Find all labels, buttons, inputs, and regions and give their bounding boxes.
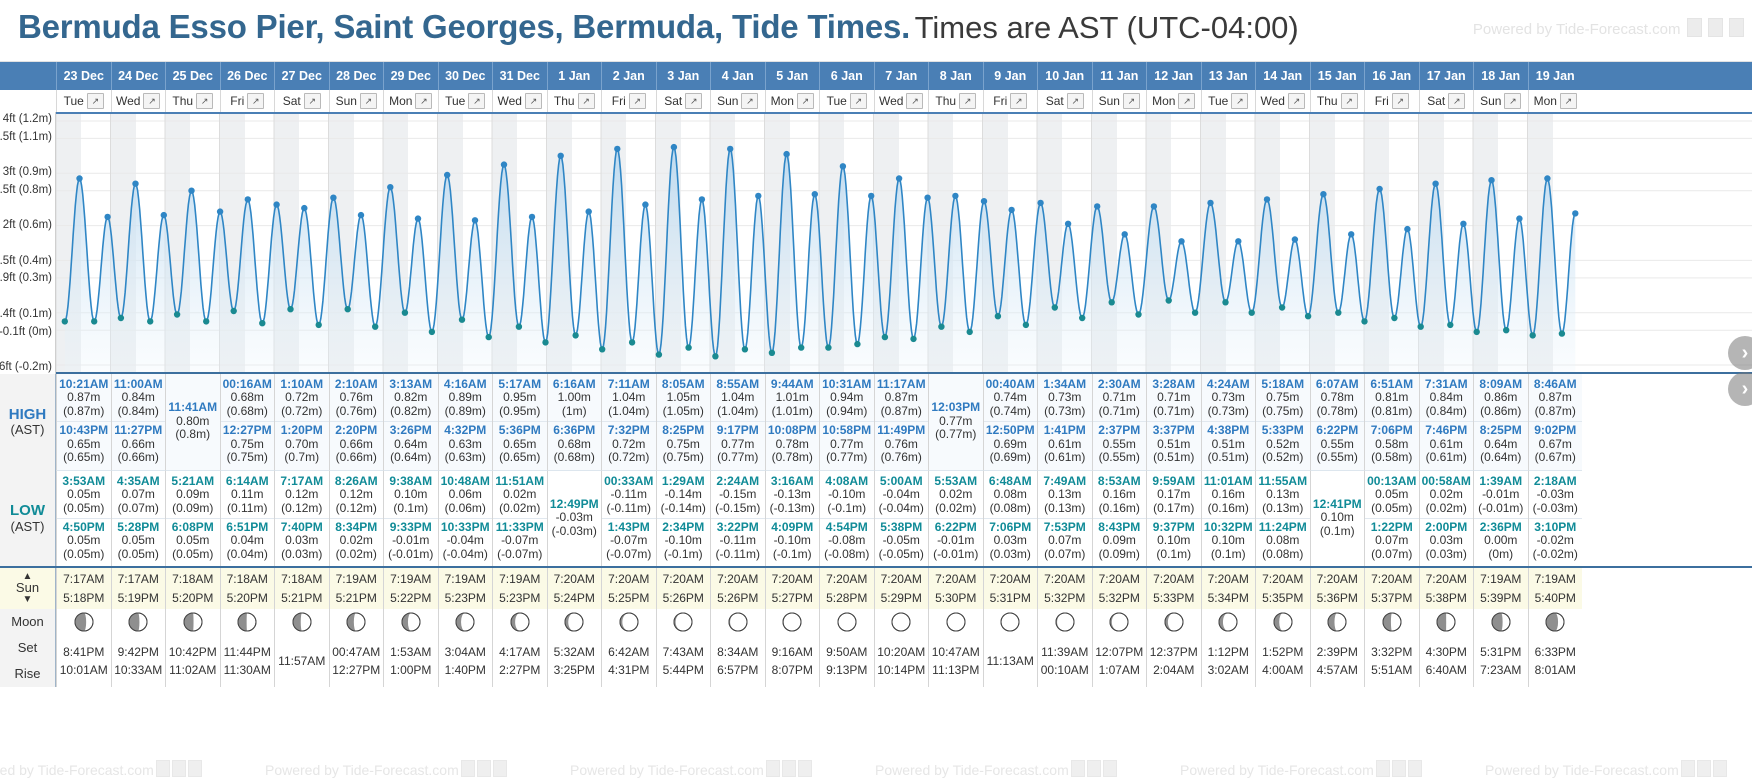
tide-height-alt: (0.69m) bbox=[984, 451, 1038, 464]
date-header-cell[interactable]: 16 Jan bbox=[1364, 62, 1419, 90]
moonrise-time: 4:57AM bbox=[1317, 661, 1358, 679]
sun-cell: 7:20AM5:35PM bbox=[1255, 568, 1310, 609]
weekday-label: Sat bbox=[1427, 94, 1445, 108]
setrise-cell: 4:17AM2:27PM bbox=[492, 635, 547, 687]
moon-phase-icon bbox=[454, 611, 476, 633]
tide-entry: 00:33AM-0.11m(-0.11m) bbox=[602, 473, 656, 518]
moonrise-label-text: Rise bbox=[14, 661, 40, 687]
sunrise-time: 7:20AM bbox=[935, 570, 976, 589]
tide-height-alt: (1.04m) bbox=[711, 405, 765, 418]
tide-height: 0.16m bbox=[1093, 488, 1147, 501]
date-header-cell[interactable]: 23 Dec bbox=[56, 62, 111, 90]
expand-icon[interactable]: ↗ bbox=[304, 93, 321, 109]
moon-phase-icon bbox=[345, 611, 367, 633]
expand-icon[interactable]: ↗ bbox=[850, 93, 867, 109]
setrise-cell: 11:39AM00:10AM bbox=[1037, 635, 1092, 687]
tide-time: 3:37PM bbox=[1147, 424, 1201, 437]
tide-height: 0.75m bbox=[1256, 391, 1310, 404]
tide-time: 3:10PM bbox=[1529, 521, 1583, 534]
moon-phase-icon bbox=[1381, 611, 1403, 633]
moon-cell bbox=[547, 609, 602, 635]
expand-icon[interactable]: ↗ bbox=[629, 93, 646, 109]
tide-height-alt: (0.13m) bbox=[1038, 502, 1092, 515]
y-axis-tick-label: 0.4ft (0.1m) bbox=[0, 308, 52, 320]
tide-height: -0.02m bbox=[1529, 534, 1583, 547]
moonrise-time: 11:13PM bbox=[932, 661, 979, 679]
weekday-header-cell: Fri↗ bbox=[601, 90, 656, 112]
date-header-cell[interactable]: 14 Jan bbox=[1255, 62, 1310, 90]
tide-height: 0.81m bbox=[1365, 391, 1419, 404]
tide-entry: 8:43PM0.09m(0.09m) bbox=[1093, 518, 1147, 564]
sun-cell: 7:20AM5:33PM bbox=[1146, 568, 1201, 609]
tide-height-alt: (0.07m) bbox=[1038, 548, 1092, 561]
tide-time: 8:53AM bbox=[1093, 475, 1147, 488]
moonrise-time: 4:00AM bbox=[1262, 661, 1303, 679]
high-tide-cell: 8:55AM1.04m(1.04m)9:17PM0.77m(0.77m) bbox=[710, 374, 765, 471]
page-title: Bermuda Esso Pier, Saint Georges, Bermud… bbox=[18, 8, 910, 45]
moonset-time: 12:07PM bbox=[1095, 643, 1143, 661]
tide-height: 0.65m bbox=[493, 438, 547, 451]
date-header-cell[interactable]: 3 Jan bbox=[656, 62, 711, 90]
moon-phase-icon bbox=[73, 611, 95, 633]
tide-time: 2:20PM bbox=[330, 424, 384, 437]
expand-icon[interactable]: ↗ bbox=[1067, 93, 1084, 109]
setrise-cell: 11:44PM11:30AM bbox=[220, 635, 275, 687]
tide-height: 0.78m bbox=[1311, 391, 1365, 404]
tide-entry: 1:20PM0.70m(0.7m) bbox=[275, 421, 329, 467]
tide-time: 9:17PM bbox=[711, 424, 765, 437]
setrise-cell: 1:12PM3:02AM bbox=[1201, 635, 1256, 687]
tide-time: 7:40PM bbox=[275, 521, 329, 534]
date-header-cell[interactable]: 29 Dec bbox=[383, 62, 438, 90]
tide-time: 4:38PM bbox=[1202, 424, 1256, 437]
date-header-cell[interactable]: 19 Jan bbox=[1528, 62, 1583, 90]
tide-entry: 2:37PM0.55m(0.55m) bbox=[1093, 421, 1147, 467]
date-header-cell[interactable]: 7 Jan bbox=[874, 62, 929, 90]
low-tide-cell: 12:41PM0.10m(0.1m) bbox=[1310, 471, 1365, 567]
tide-height: 0.75m bbox=[221, 438, 275, 451]
tide-entry: 8:55AM1.04m(1.04m) bbox=[711, 376, 765, 421]
tide-time: 9:38AM bbox=[384, 475, 438, 488]
tide-time: 2:30AM bbox=[1093, 378, 1147, 391]
tide-entry: 4:32PM0.63m(0.63m) bbox=[439, 421, 493, 467]
sunset-time: 5:26PM bbox=[717, 589, 758, 608]
tide-height-alt: (-0.03m) bbox=[548, 525, 602, 538]
tide-height: 0.70m bbox=[275, 438, 329, 451]
low-label-tz: (AST) bbox=[11, 520, 45, 535]
tide-time: 1:22PM bbox=[1365, 521, 1419, 534]
tide-height-alt: (-0.04m) bbox=[875, 502, 929, 515]
chart-plot-area[interactable] bbox=[56, 112, 1752, 374]
sunrise-time: 7:20AM bbox=[1371, 570, 1412, 589]
tide-entry: 2:30AM0.71m(0.71m) bbox=[1093, 376, 1147, 421]
moon-cell bbox=[601, 609, 656, 635]
high-tide-cell: 8:46AM0.87m(0.87m)9:02PM0.67m(0.67m) bbox=[1528, 374, 1583, 471]
tide-height: 0.76m bbox=[875, 438, 929, 451]
date-header-cell[interactable]: 6 Jan bbox=[819, 62, 874, 90]
watermark-box-icon bbox=[461, 760, 475, 777]
tide-height: 0.05m bbox=[1365, 488, 1419, 501]
tide-time: 1:29AM bbox=[657, 475, 711, 488]
date-header-cell[interactable]: 9 Jan bbox=[983, 62, 1038, 90]
tide-entry: 00:13AM0.05m(0.05m) bbox=[1365, 473, 1419, 518]
tide-entry: 7:49AM0.13m(0.13m) bbox=[1038, 473, 1092, 518]
tide-height-alt: (-0.11m) bbox=[711, 548, 765, 561]
low-tide-cell: 5:21AM0.09m(0.09m)6:08PM0.05m(0.05m) bbox=[165, 471, 220, 567]
tide-time: 9:59AM bbox=[1147, 475, 1201, 488]
date-header-cell[interactable]: 1 Jan bbox=[547, 62, 602, 90]
tide-forecast-page: Bermuda Esso Pier, Saint Georges, Bermud… bbox=[0, 0, 1752, 780]
tide-entry: 2:20PM0.66m(0.66m) bbox=[330, 421, 384, 467]
expand-icon[interactable]: ↗ bbox=[906, 93, 923, 109]
tide-time: 4:50PM bbox=[57, 521, 111, 534]
tide-height: 0.84m bbox=[1420, 391, 1474, 404]
tide-height: 0.05m bbox=[112, 534, 166, 547]
weekday-label: Tue bbox=[1208, 94, 1228, 108]
tide-height-alt: (0.71m) bbox=[1147, 405, 1201, 418]
tide-height: 0.17m bbox=[1147, 488, 1201, 501]
tide-height: 0.03m bbox=[1420, 534, 1474, 547]
tide-height: 0.10m bbox=[384, 488, 438, 501]
sunset-time: 5:22PM bbox=[390, 589, 431, 608]
expand-icon[interactable]: ↗ bbox=[1341, 93, 1358, 109]
moon-cell bbox=[1528, 609, 1583, 635]
expand-icon[interactable]: ↗ bbox=[741, 93, 758, 109]
tide-height-alt: (0.55m) bbox=[1311, 451, 1365, 464]
watermark-box-icon bbox=[1713, 760, 1727, 777]
weekday-label: Tue bbox=[827, 94, 847, 108]
tide-time: 11:27PM bbox=[112, 424, 166, 437]
tide-time: 12:49PM bbox=[548, 498, 602, 511]
date-header-cell[interactable]: 18 Jan bbox=[1473, 62, 1528, 90]
tide-height: 0.75m bbox=[657, 438, 711, 451]
tide-height: -0.04m bbox=[875, 488, 929, 501]
y-axis-tick-label: 2ft (0.6m) bbox=[3, 219, 52, 231]
tide-entry: 1:10AM0.72m(0.72m) bbox=[275, 376, 329, 421]
expand-icon[interactable]: ↗ bbox=[1448, 93, 1465, 109]
high-tide-cell: 6:16AM1.00m(1m)6:36PM0.68m(0.68m) bbox=[547, 374, 602, 471]
date-header-cell[interactable]: 13 Jan bbox=[1201, 62, 1256, 90]
moon-cell bbox=[165, 609, 220, 635]
expand-icon[interactable]: ↗ bbox=[143, 93, 160, 109]
high-tide-cell: 7:11AM1.04m(1.04m)7:32PM0.72m(0.72m) bbox=[601, 374, 656, 471]
moon-phase-icon bbox=[781, 611, 803, 633]
tide-height: 0.07m bbox=[1038, 534, 1092, 547]
weekday-header-cell: Wed↗ bbox=[492, 90, 547, 112]
sunset-time: 5:26PM bbox=[663, 589, 704, 608]
weekday-label: Sat bbox=[664, 94, 682, 108]
tide-height: -0.04m bbox=[439, 534, 493, 547]
sunrise-time: 7:19AM bbox=[1480, 570, 1521, 589]
setrise-cell: 2:39PM4:57AM bbox=[1310, 635, 1365, 687]
tide-height-alt: (0.05m) bbox=[166, 548, 220, 561]
low-tide-cell: 6:48AM0.08m(0.08m)7:06PM0.03m(0.03m) bbox=[983, 471, 1038, 567]
tide-height: 0.71m bbox=[1147, 391, 1201, 404]
tide-time: 8:25PM bbox=[1474, 424, 1528, 437]
expand-icon[interactable]: ↗ bbox=[1123, 93, 1140, 109]
setrise-cell: 00:47AM12:27PM bbox=[329, 635, 384, 687]
watermark-box-icon bbox=[1392, 760, 1406, 777]
high-tide-cell: 11:00AM0.84m(0.84m)11:27PM0.66m(0.66m) bbox=[111, 374, 166, 471]
expand-icon[interactable]: ↗ bbox=[525, 93, 542, 109]
sunset-time: 5:29PM bbox=[881, 589, 922, 608]
tide-time: 2:00PM bbox=[1420, 521, 1474, 534]
tide-time: 12:03PM bbox=[929, 401, 983, 414]
moon-phase-icon bbox=[1435, 611, 1457, 633]
tide-time: 10:43PM bbox=[57, 424, 111, 437]
tide-height: -0.10m bbox=[766, 534, 820, 547]
watermark-box-icon bbox=[1103, 760, 1117, 777]
weekday-header-cell: Thu↗ bbox=[1310, 90, 1365, 112]
tide-time: 7:53PM bbox=[1038, 521, 1092, 534]
sunrise-time: 7:17AM bbox=[118, 570, 159, 589]
tide-entry: 9:17PM0.77m(0.77m) bbox=[711, 421, 765, 467]
moon-cell bbox=[56, 609, 111, 635]
tide-entry: 11:01AM0.16m(0.16m) bbox=[1202, 473, 1256, 518]
tide-height: 0.13m bbox=[1038, 488, 1092, 501]
tide-time: 10:08PM bbox=[766, 424, 820, 437]
tide-height: 0.55m bbox=[1311, 438, 1365, 451]
expand-icon[interactable]: ↗ bbox=[247, 93, 264, 109]
tide-entry: 2:10AM0.76m(0.76m) bbox=[330, 376, 384, 421]
tide-height: 0.61m bbox=[1038, 438, 1092, 451]
high-label-tz: (AST) bbox=[11, 423, 45, 438]
tide-entry: 10:48AM0.06m(0.06m) bbox=[439, 473, 493, 518]
tide-height-alt: (0.61m) bbox=[1038, 451, 1092, 464]
tide-entry: 00:16AM0.68m(0.68m) bbox=[221, 376, 275, 421]
weekday-label: Sat bbox=[1046, 94, 1064, 108]
setrise-cell: 8:34AM6:57PM bbox=[710, 635, 765, 687]
tide-time: 6:16AM bbox=[548, 378, 602, 391]
tide-height: 1.00m bbox=[548, 391, 602, 404]
low-tide-cell: 1:29AM-0.14m(-0.14m)2:34PM-0.10m(-0.1m) bbox=[656, 471, 711, 567]
moonset-time: 5:32AM bbox=[554, 643, 595, 661]
tide-entry: 11:41AM0.80m(0.8m) bbox=[166, 399, 220, 444]
sunset-time: 5:23PM bbox=[499, 589, 540, 608]
date-header-cell[interactable]: 12 Jan bbox=[1146, 62, 1201, 90]
watermark-box-icon bbox=[493, 760, 507, 777]
tide-height: 0.86m bbox=[1474, 391, 1528, 404]
moon-cell bbox=[928, 609, 983, 635]
weekday-label: Mon bbox=[1152, 94, 1175, 108]
date-header-cell[interactable]: 26 Dec bbox=[220, 62, 275, 90]
tide-time: 12:50PM bbox=[984, 424, 1038, 437]
sunrise-time: 7:20AM bbox=[663, 570, 704, 589]
tide-height-alt: (0.04m) bbox=[221, 548, 275, 561]
sunrise-time: 7:18AM bbox=[281, 570, 322, 589]
tide-time: 2:36PM bbox=[1474, 521, 1528, 534]
weekday-header-cell: Tue↗ bbox=[819, 90, 874, 112]
tide-time: 7:49AM bbox=[1038, 475, 1092, 488]
expand-icon[interactable]: ↗ bbox=[196, 93, 213, 109]
moonset-time: 11:13AM bbox=[987, 652, 1034, 670]
expand-icon[interactable]: ↗ bbox=[578, 93, 595, 109]
tide-height: -0.15m bbox=[711, 488, 765, 501]
tide-entry: 1:29AM-0.14m(-0.14m) bbox=[657, 473, 711, 518]
tide-height-alt: (0.74m) bbox=[984, 405, 1038, 418]
sunset-time: 5:20PM bbox=[227, 589, 268, 608]
sun-cell: 7:19AM5:23PM bbox=[492, 568, 547, 609]
tide-height: 0.76m bbox=[330, 391, 384, 404]
tide-height-alt: (0.68m) bbox=[548, 451, 602, 464]
expand-icon[interactable]: ↗ bbox=[1504, 93, 1521, 109]
tide-height-alt: (-0.04m) bbox=[439, 548, 493, 561]
moon-phase-icon bbox=[400, 611, 422, 633]
expand-icon[interactable]: ↗ bbox=[1560, 93, 1577, 109]
tide-height: 0.58m bbox=[1365, 438, 1419, 451]
tide-height: 0.87m bbox=[1529, 391, 1583, 404]
watermark-footer-item: Powered by Tide-Forecast.com bbox=[875, 760, 1117, 778]
sun-cell: 7:20AM5:38PM bbox=[1419, 568, 1474, 609]
date-header-cell[interactable]: 11 Jan bbox=[1092, 62, 1147, 90]
tide-entry: 1:41PM0.61m(0.61m) bbox=[1038, 421, 1092, 467]
tide-height-alt: (-0.1m) bbox=[657, 548, 711, 561]
tide-height-alt: (0.12m) bbox=[275, 502, 329, 515]
tide-height-alt: (0.55m) bbox=[1093, 451, 1147, 464]
moon-cell bbox=[1037, 609, 1092, 635]
expand-icon[interactable]: ↗ bbox=[959, 93, 976, 109]
weekday-header-cell: Sun↗ bbox=[1473, 90, 1528, 112]
date-header-cell[interactable]: 5 Jan bbox=[765, 62, 820, 90]
date-header-cell[interactable]: 8 Jan bbox=[928, 62, 983, 90]
expand-icon[interactable]: ↗ bbox=[1010, 93, 1027, 109]
expand-icon[interactable]: ↗ bbox=[468, 93, 485, 109]
moon-cell bbox=[874, 609, 929, 635]
tide-height: 0.07m bbox=[1365, 534, 1419, 547]
weekday-header-cell: Thu↗ bbox=[547, 90, 602, 112]
tide-entry: 6:51AM0.81m(0.81m) bbox=[1365, 376, 1419, 421]
tide-height-alt: (0.78m) bbox=[1311, 405, 1365, 418]
moon-cell bbox=[710, 609, 765, 635]
moonrise-time: 3:25PM bbox=[554, 661, 595, 679]
tide-height-alt: (-0.14m) bbox=[657, 502, 711, 515]
high-tide-cell: 11:41AM0.80m(0.8m) bbox=[165, 374, 220, 471]
date-header-spacer bbox=[0, 62, 56, 90]
moon-phase-icon bbox=[1108, 611, 1130, 633]
tide-height: 0.68m bbox=[548, 438, 602, 451]
moonrise-time: 6:40AM bbox=[1426, 661, 1467, 679]
tide-entry: 11:33PM-0.07m(-0.07m) bbox=[493, 518, 547, 564]
expand-icon[interactable]: ↗ bbox=[1231, 93, 1248, 109]
expand-icon[interactable]: ↗ bbox=[1392, 93, 1409, 109]
tide-entry: 7:46PM0.61m(0.61m) bbox=[1420, 421, 1474, 467]
expand-icon[interactable]: ↗ bbox=[415, 93, 432, 109]
date-header-cell[interactable]: 27 Dec bbox=[274, 62, 329, 90]
setrise-cell: 12:07PM1:07AM bbox=[1092, 635, 1147, 687]
expand-icon[interactable]: ↗ bbox=[87, 93, 104, 109]
moonrise-time: 5:51AM bbox=[1371, 661, 1412, 679]
tide-entry: 5:33PM0.52m(0.52m) bbox=[1256, 421, 1310, 467]
high-tide-cell: 1:10AM0.72m(0.72m)1:20PM0.70m(0.7m) bbox=[274, 374, 329, 471]
tide-height: -0.10m bbox=[657, 534, 711, 547]
expand-icon[interactable]: ↗ bbox=[1178, 93, 1195, 109]
tide-time: 3:26PM bbox=[384, 424, 438, 437]
expand-icon[interactable]: ↗ bbox=[360, 93, 377, 109]
moon-phase-icon bbox=[182, 611, 204, 633]
tide-height: 0.03m bbox=[984, 534, 1038, 547]
moon-phase-icon bbox=[1490, 611, 1512, 633]
date-header-cell[interactable]: 15 Jan bbox=[1310, 62, 1365, 90]
tide-height: 0.51m bbox=[1202, 438, 1256, 451]
date-header-cell[interactable]: 31 Dec bbox=[492, 62, 547, 90]
tide-height: 0.73m bbox=[1202, 391, 1256, 404]
tide-height: 0.10m bbox=[1147, 534, 1201, 547]
sun-cell: 7:20AM5:28PM bbox=[819, 568, 874, 609]
watermark-footer-item: Powered by Tide-Forecast.com bbox=[1485, 760, 1727, 778]
date-header-cell[interactable]: 2 Jan bbox=[601, 62, 656, 90]
high-tide-cell: 8:09AM0.86m(0.86m)8:25PM0.64m(0.64m) bbox=[1473, 374, 1528, 471]
tide-entry: 5:17AM0.95m(0.95m) bbox=[493, 376, 547, 421]
expand-icon[interactable]: ↗ bbox=[797, 93, 814, 109]
date-header-cell[interactable]: 4 Jan bbox=[710, 62, 765, 90]
date-header-row: 23 Dec24 Dec25 Dec26 Dec27 Dec28 Dec29 D… bbox=[0, 62, 1752, 90]
tide-height-alt: (0.81m) bbox=[1365, 405, 1419, 418]
expand-icon[interactable]: ↗ bbox=[1288, 93, 1305, 109]
watermark-text: Powered by Tide-Forecast.com bbox=[1485, 762, 1679, 778]
tide-time: 1:34AM bbox=[1038, 378, 1092, 391]
weekday-header-cell: Wed↗ bbox=[111, 90, 166, 112]
tide-height: 0.63m bbox=[439, 438, 493, 451]
date-header-cell[interactable]: 30 Dec bbox=[438, 62, 493, 90]
tide-time: 7:06PM bbox=[984, 521, 1038, 534]
tide-height-alt: (0.52m) bbox=[1256, 451, 1310, 464]
tide-entry: 4:54PM-0.08m(-0.08m) bbox=[820, 518, 874, 564]
moon-phase-icon bbox=[945, 611, 967, 633]
tide-time: 5:53AM bbox=[929, 475, 983, 488]
sunset-time: 5:35PM bbox=[1262, 589, 1303, 608]
date-header-cell[interactable]: 24 Dec bbox=[111, 62, 166, 90]
tide-height-alt: (0.11m) bbox=[221, 502, 275, 515]
weekday-header-cell: Thu↗ bbox=[928, 90, 983, 112]
high-tide-cell: 4:24AM0.73m(0.73m)4:38PM0.51m(0.51m) bbox=[1201, 374, 1256, 471]
date-header-cell[interactable]: 10 Jan bbox=[1037, 62, 1092, 90]
tide-entry: 5:53AM0.02m(0.02m) bbox=[929, 473, 983, 518]
tide-height-alt: (0.73m) bbox=[1202, 405, 1256, 418]
tide-height-alt: (0.72m) bbox=[602, 451, 656, 464]
tide-height-alt: (0.66m) bbox=[330, 451, 384, 464]
sunset-time: 5:36PM bbox=[1317, 589, 1358, 608]
tide-time: 10:31AM bbox=[820, 378, 874, 391]
sunrise-time: 7:20AM bbox=[1426, 570, 1467, 589]
weekday-label: Wed bbox=[498, 94, 522, 108]
setrise-cell: 3:04AM1:40PM bbox=[438, 635, 493, 687]
sunset-time: 5:33PM bbox=[1153, 589, 1194, 608]
tide-entry: 10:32PM0.10m(0.1m) bbox=[1202, 518, 1256, 564]
tide-entry: 2:18AM-0.03m(-0.03m) bbox=[1529, 473, 1583, 518]
high-tide-cell: 3:13AM0.82m(0.82m)3:26PM0.64m(0.64m) bbox=[383, 374, 438, 471]
moonset-time: 1:12PM bbox=[1208, 643, 1249, 661]
watermark-box-icon bbox=[1087, 760, 1101, 777]
tide-entry: 8:34PM0.02m(0.02m) bbox=[330, 518, 384, 564]
weekday-header-cell: Mon↗ bbox=[765, 90, 820, 112]
date-header-cell[interactable]: 28 Dec bbox=[329, 62, 384, 90]
low-tide-cell: 7:49AM0.13m(0.13m)7:53PM0.07m(0.07m) bbox=[1037, 471, 1092, 567]
tide-time: 6:51AM bbox=[1365, 378, 1419, 391]
expand-icon[interactable]: ↗ bbox=[685, 93, 702, 109]
weekday-label: Mon bbox=[389, 94, 412, 108]
watermark-box-icon bbox=[1071, 760, 1085, 777]
weekday-header-cell: Sat↗ bbox=[656, 90, 711, 112]
setrise-cell: 9:16AM8:07PM bbox=[765, 635, 820, 687]
moon-cell bbox=[492, 609, 547, 635]
date-header-cell[interactable]: 17 Jan bbox=[1419, 62, 1474, 90]
tide-entry: 9:59AM0.17m(0.17m) bbox=[1147, 473, 1201, 518]
high-tide-cell: 8:05AM1.05m(1.05m)8:25PM0.75m(0.75m) bbox=[656, 374, 711, 471]
tide-time: 1:20PM bbox=[275, 424, 329, 437]
date-header-cell[interactable]: 25 Dec bbox=[165, 62, 220, 90]
tide-time: 3:53AM bbox=[57, 475, 111, 488]
low-tide-cell: 8:26AM0.12m(0.12m)8:34PM0.02m(0.02m) bbox=[329, 471, 384, 567]
